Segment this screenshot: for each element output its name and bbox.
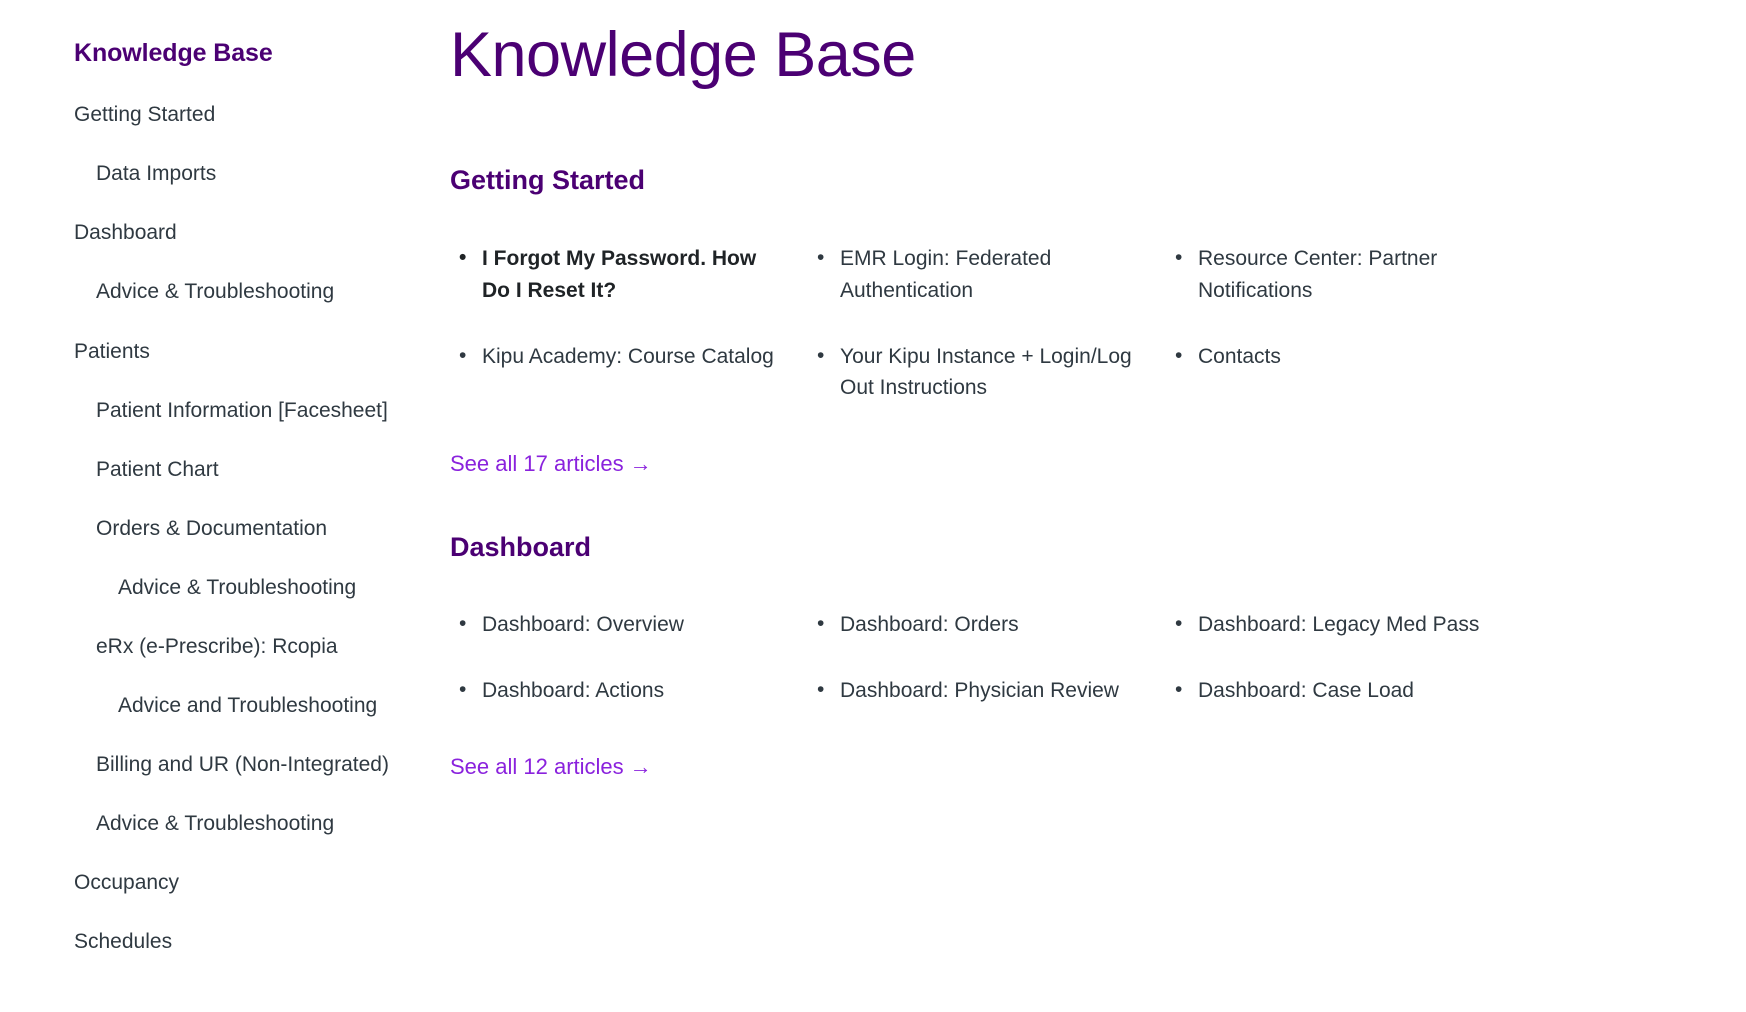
sidebar-item[interactable]: Patient Chart [74, 454, 390, 485]
sidebar-item[interactable]: Getting Started [74, 99, 390, 130]
sidebar-item-label: Patient Chart [96, 458, 219, 481]
article-cell: Your Kipu Instance + Login/Log Out Instr… [808, 341, 1166, 405]
article-link[interactable]: Dashboard: Actions [450, 675, 788, 707]
article-link[interactable]: Your Kipu Instance + Login/Log Out Instr… [808, 341, 1146, 405]
sidebar-nav-list: Getting StartedData ImportsDashboardAdvi… [74, 99, 390, 957]
article-link[interactable]: Kipu Academy: Course Catalog [450, 341, 788, 373]
article-cell: Dashboard: Orders [808, 609, 1166, 641]
sidebar-item[interactable]: Advice and Troubleshooting [74, 690, 390, 721]
see-all-label: See all 12 articles [450, 754, 624, 779]
article-link[interactable]: Resource Center: Partner Notifications [1166, 243, 1504, 307]
sidebar-item-label: Advice & Troubleshooting [118, 576, 356, 599]
arrow-right-icon: → [630, 754, 652, 779]
article-link[interactable]: Contacts [1166, 341, 1504, 373]
see-all-articles-link[interactable]: See all 12 articles→ [450, 753, 652, 782]
sidebar-item-label: Orders & Documentation [96, 517, 327, 540]
section-title: Dashboard [450, 531, 1686, 563]
article-link[interactable]: I Forgot My Password. How Do I Reset It? [450, 243, 788, 307]
sidebar-item[interactable]: Patients [74, 336, 390, 367]
sidebar-item[interactable]: Occupancy [74, 867, 390, 898]
sidebar-title: Knowledge Base [74, 38, 390, 69]
arrow-right-icon: → [630, 451, 652, 476]
article-cell: EMR Login: Federated Authentication [808, 243, 1166, 307]
sidebar-item-label: Patient Information [Facesheet] [96, 399, 388, 422]
article-cell: Dashboard: Physician Review [808, 675, 1166, 707]
sidebar-item-label: Advice & Troubleshooting [96, 280, 334, 303]
sidebar: Knowledge Base Getting StartedData Impor… [0, 0, 420, 985]
sidebar-item[interactable]: Patient Information [Facesheet] [74, 395, 390, 426]
sidebar-item[interactable]: Schedules [74, 926, 390, 957]
sidebar-item-label: Advice & Troubleshooting [96, 812, 334, 835]
sidebar-item[interactable]: Dashboard [74, 217, 390, 248]
article-cell: I Forgot My Password. How Do I Reset It? [450, 243, 808, 307]
sidebar-item-label: Occupancy [74, 871, 179, 894]
article-grid: I Forgot My Password. How Do I Reset It?… [450, 243, 1686, 439]
knowledge-base-page: Knowledge Base Getting StartedData Impor… [0, 0, 1746, 1012]
article-section: DashboardDashboard: OverviewDashboard: O… [450, 531, 1686, 782]
sidebar-item-label: eRx (e-Prescribe): Rcopia [96, 635, 338, 658]
article-link[interactable]: EMR Login: Federated Authentication [808, 243, 1146, 307]
sidebar-item[interactable]: Orders & Documentation [74, 513, 390, 544]
sidebar-item-label: Data Imports [96, 162, 216, 185]
article-link[interactable]: Dashboard: Orders [808, 609, 1146, 641]
article-grid: Dashboard: OverviewDashboard: OrdersDash… [450, 609, 1686, 741]
sidebar-item-label: Billing and UR (Non-Integrated) [96, 753, 389, 776]
sidebar-item-label: Advice and Troubleshooting [118, 694, 377, 717]
article-cell: Resource Center: Partner Notifications [1166, 243, 1524, 307]
see-all-label: See all 17 articles [450, 451, 624, 476]
see-all-articles-link[interactable]: See all 17 articles→ [450, 450, 652, 479]
article-cell: Dashboard: Legacy Med Pass [1166, 609, 1524, 641]
page-title: Knowledge Base [450, 18, 1686, 92]
article-cell: Dashboard: Case Load [1166, 675, 1524, 707]
article-cell: Contacts [1166, 341, 1524, 405]
sidebar-item-label: Schedules [74, 930, 172, 953]
article-cell: Dashboard: Overview [450, 609, 808, 641]
sidebar-item[interactable]: Advice & Troubleshooting [74, 276, 390, 307]
sidebar-item-label: Dashboard [74, 221, 177, 244]
article-link[interactable]: Dashboard: Case Load [1166, 675, 1504, 707]
article-link[interactable]: Dashboard: Physician Review [808, 675, 1146, 707]
article-cell: Dashboard: Actions [450, 675, 808, 707]
article-link[interactable]: Dashboard: Overview [450, 609, 788, 641]
article-section: Getting StartedI Forgot My Password. How… [450, 164, 1686, 479]
sidebar-item[interactable]: Advice & Troubleshooting [74, 572, 390, 603]
sidebar-item[interactable]: eRx (e-Prescribe): Rcopia [74, 631, 390, 662]
sidebar-item[interactable]: Billing and UR (Non-Integrated) [74, 749, 390, 780]
sidebar-item[interactable]: Advice & Troubleshooting [74, 808, 390, 839]
section-title: Getting Started [450, 164, 1686, 196]
sidebar-item-label: Patients [74, 340, 150, 363]
sidebar-item[interactable]: Data Imports [74, 158, 390, 189]
sidebar-item-label: Getting Started [74, 103, 215, 126]
article-cell: Kipu Academy: Course Catalog [450, 341, 808, 405]
main-content: Knowledge Base Getting StartedI Forgot M… [420, 0, 1746, 834]
sections-container: Getting StartedI Forgot My Password. How… [450, 164, 1686, 781]
article-link[interactable]: Dashboard: Legacy Med Pass [1166, 609, 1504, 641]
